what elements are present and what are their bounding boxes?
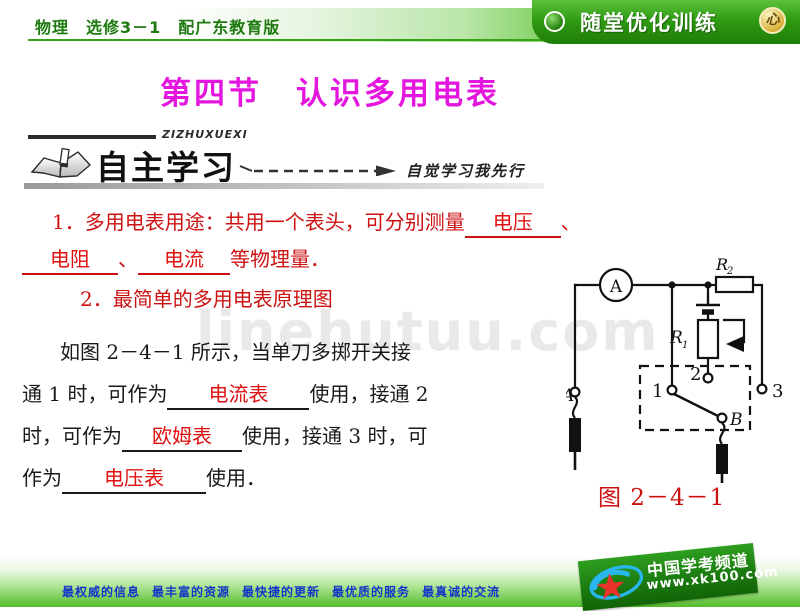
footer-slogan-item: 最权威的信息 xyxy=(62,585,140,599)
header-brand-pill: 随堂优化训练 心 xyxy=(532,0,800,44)
section-banner: ZIZHUXUEXI 自主学习 自觉学习我先行 xyxy=(24,128,544,190)
resistor-r2-symbol xyxy=(716,277,753,292)
probe-body-b xyxy=(716,444,728,474)
probe-lead-b xyxy=(720,423,724,444)
header-brand-label: 随堂优化训练 xyxy=(580,7,718,37)
terminal-a-label: A xyxy=(566,386,574,406)
page-title: 第四节 认识多用电表 xyxy=(0,68,660,113)
blank-field-6[interactable]: 电压表 xyxy=(62,462,206,494)
ammeter-label: A xyxy=(609,277,623,297)
paragraph-line-4: 作为电压表使用． xyxy=(22,462,266,494)
paragraph-l4b: 使用． xyxy=(206,466,266,490)
slide-header: 物理 选修3－1 配广东教育版 随堂优化训练 心 xyxy=(0,0,800,48)
junction-dot xyxy=(668,281,675,288)
paragraph-line-3: 时，可作为欧姆表使用，接通 3 时，可 xyxy=(22,420,427,452)
open-book-icon xyxy=(30,146,92,180)
resistor-r2-subscript: 2 xyxy=(726,266,733,277)
paragraph-l3a: 时，可作为 xyxy=(22,424,122,448)
switch-contact-2-label: 2 xyxy=(690,364,701,385)
paragraph-line-1: 如图 2－4－1 所示，当单刀多掷开关接 xyxy=(60,336,411,365)
banner-top-rule xyxy=(28,135,156,139)
header-divider-rule xyxy=(28,39,548,41)
footer-slogan-item: 最真诚的交流 xyxy=(422,585,500,599)
e-star-logo-icon xyxy=(587,563,646,603)
item1-sep1: 、 xyxy=(561,210,581,234)
circuit-diagram: A R 2 R 1 1 2 3 B A xyxy=(566,258,794,483)
footer-slogan-item: 最丰富的资源 xyxy=(152,585,230,599)
knob-icon xyxy=(544,11,565,32)
banner-section-word: 自主学习 xyxy=(96,141,236,189)
battery-symbol xyxy=(696,305,720,312)
terminal-b-label: B xyxy=(729,410,743,430)
item2-heading: 2．最简单的多用电表原理图 xyxy=(80,283,333,312)
footer-slogan-item: 最快捷的更新 xyxy=(242,585,320,599)
item1-line2: 电阻、电流等物理量． xyxy=(22,243,330,275)
footer-slogan-item: 最优质的服务 xyxy=(332,585,410,599)
footer-slogan-list: 最权威的信息最丰富的资源最快捷的更新最优质的服务最真诚的交流 xyxy=(62,583,512,600)
header-book-title: 物理 选修3－1 配广东教育版 xyxy=(35,14,280,38)
paragraph-l3b: 使用，接通 3 时，可 xyxy=(242,424,427,448)
switch-contact-1-label: 1 xyxy=(652,381,663,402)
switch-pivot-b xyxy=(718,414,727,423)
figure-caption: 图 2－4－1 xyxy=(598,478,725,512)
item1-sep2: 、 xyxy=(118,247,138,271)
blank-field-3[interactable]: 电流 xyxy=(138,243,230,275)
switch-contact-2[interactable] xyxy=(704,374,713,383)
blank-field-5[interactable]: 欧姆表 xyxy=(122,420,242,452)
switch-contact-3[interactable] xyxy=(758,385,767,394)
switch-blade[interactable] xyxy=(674,394,718,416)
paragraph-l2a: 通 1 时，可作为 xyxy=(22,382,167,406)
paragraph-l2b: 使用，接通 2 xyxy=(309,382,428,406)
seal-badge-icon: 心 xyxy=(759,7,786,34)
rheostat-wiper-arrow xyxy=(726,336,744,352)
resistor-r1-symbol xyxy=(698,320,718,358)
switch-contact-3-label: 3 xyxy=(772,381,783,402)
switch-contact-1[interactable] xyxy=(668,386,677,395)
resistor-r1-label: R xyxy=(669,328,683,348)
resistor-r1-subscript: 1 xyxy=(682,340,688,351)
paragraph-l4a: 作为 xyxy=(22,466,62,490)
blank-field-1[interactable]: 电压 xyxy=(465,206,561,238)
paragraph-line-2: 通 1 时，可作为电流表使用，接通 2 xyxy=(22,378,429,410)
blank-field-4[interactable]: 电流表 xyxy=(167,378,309,410)
banner-slogan-label: 自觉学习我先行 xyxy=(406,160,525,181)
item1-line1: 1．多用电表用途：共用一个表头，可分别测量电压、 xyxy=(52,206,581,238)
junction-dot xyxy=(704,281,711,288)
item1-suffix: 等物理量． xyxy=(230,247,330,271)
banner-pinyin-label: ZIZHUXUEXI xyxy=(162,128,248,141)
blank-field-2[interactable]: 电阻 xyxy=(22,243,118,275)
item1-prefix: 1．多用电表用途：共用一个表头，可分别测量 xyxy=(52,210,465,234)
dashed-arrow-icon xyxy=(238,164,400,176)
probe-body-a xyxy=(569,418,581,452)
banner-base-rule xyxy=(24,183,544,189)
